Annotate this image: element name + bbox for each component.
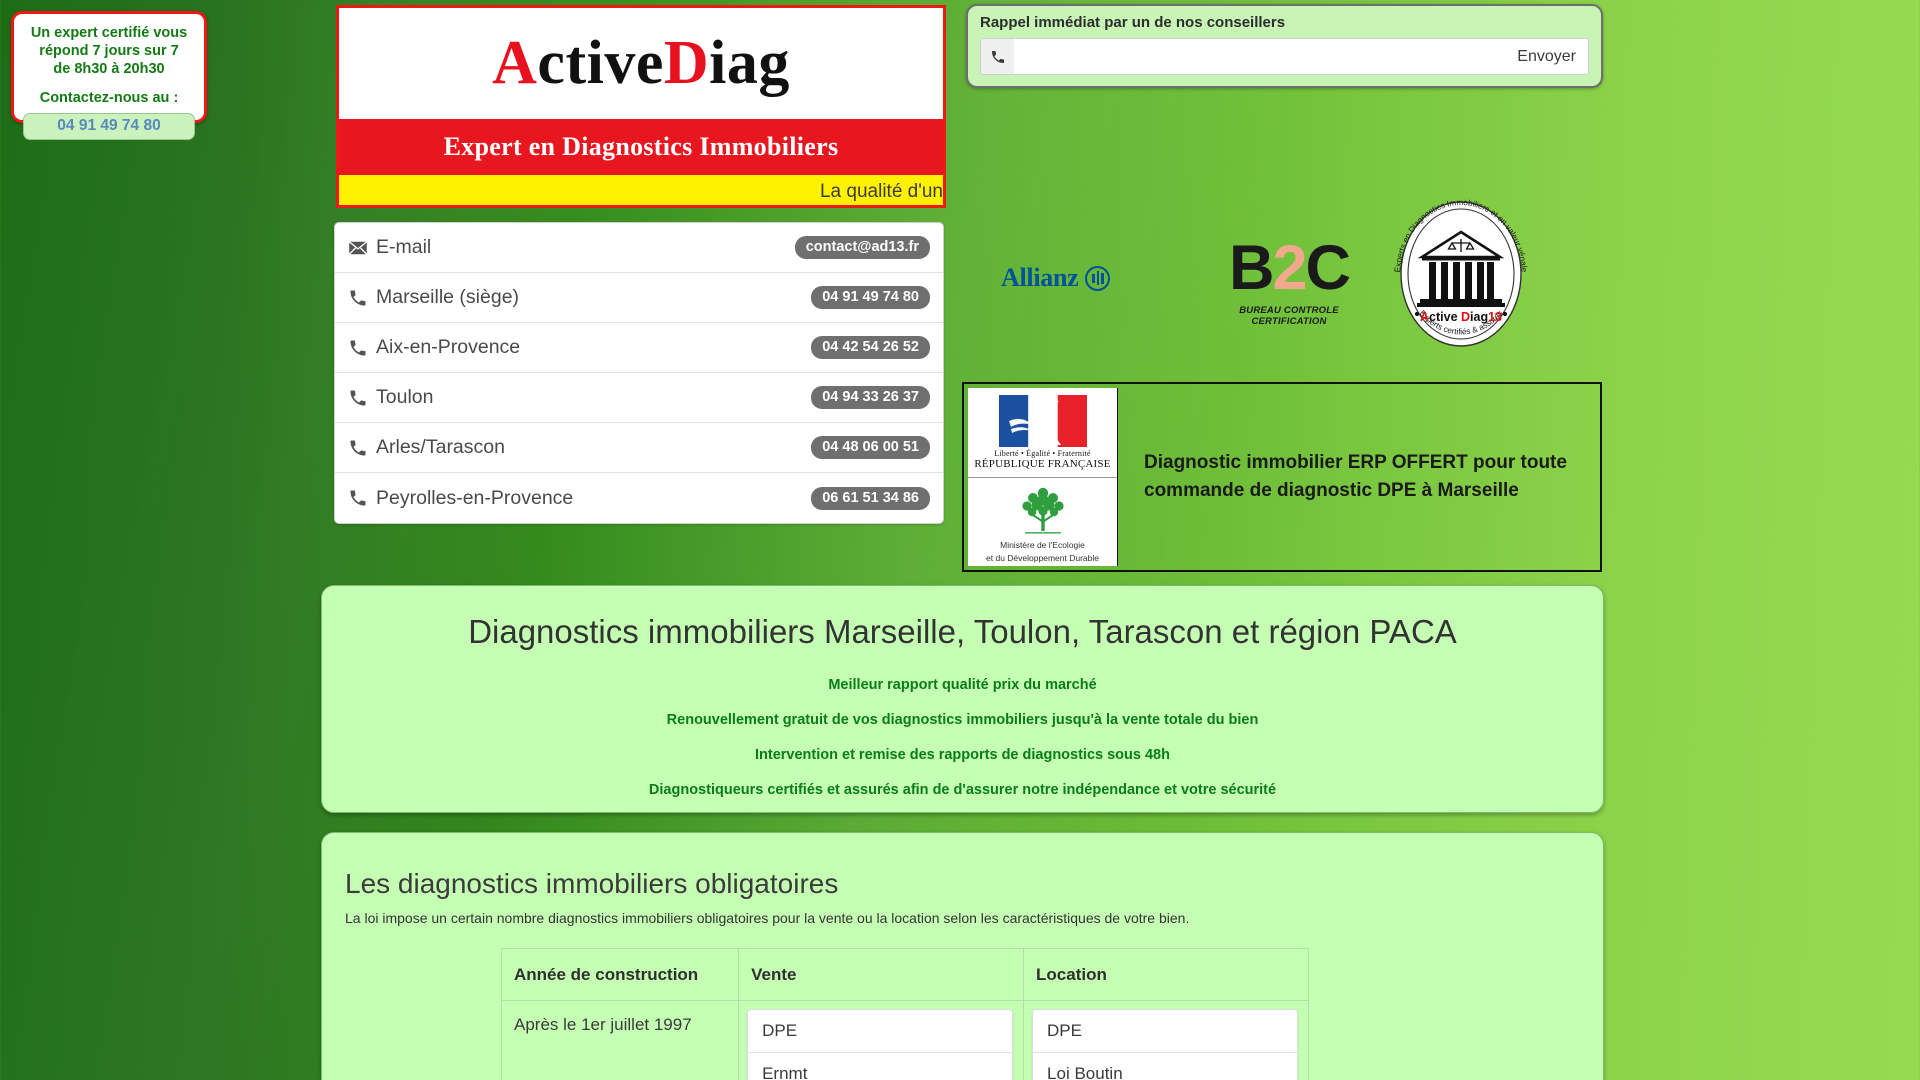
allianz-bars-icon — [1085, 266, 1110, 291]
contact-value[interactable]: 06 61 51 34 86 — [811, 487, 930, 510]
expert-phone-button[interactable]: 04 91 49 74 80 — [23, 113, 195, 140]
tree-icon — [1015, 481, 1071, 537]
contact-row[interactable]: E-mailcontact@ad13.fr — [335, 223, 943, 273]
republique-motto: Liberté • Égalité • Fraternité — [994, 449, 1090, 458]
logo-title-iag: iag — [709, 28, 790, 99]
french-flag-marianne-icon — [999, 395, 1087, 447]
logo-title-a: A — [492, 28, 537, 99]
svg-text:Active Diag13: Active Diag13 — [1420, 310, 1502, 324]
table-cell-location: DPELoi Boutin — [1024, 1001, 1309, 1080]
contact-label: Toulon — [376, 386, 433, 409]
ministere-line-2: et du Développement Durable — [986, 553, 1099, 563]
erp-official-logos: Liberté • Égalité • Fraternité RÉPUBLIQU… — [968, 388, 1118, 566]
logo-tagline: La qualité d'un — [339, 175, 943, 208]
site-logo: Active Diag Expert en Diagnostics Immobi… — [336, 5, 946, 208]
b2c-digit-2: 2 — [1272, 233, 1305, 303]
contact-value[interactable]: 04 91 49 74 80 — [811, 286, 930, 309]
contact-label: E-mail — [376, 236, 431, 259]
contact-value[interactable]: contact@ad13.fr — [795, 236, 930, 259]
contact-label: Marseille (siège) — [376, 286, 519, 309]
intro-line: Diagnostiqueurs certifiés et assurés afi… — [322, 782, 1603, 798]
expert-line-3: de 8h30 à 20h30 — [14, 60, 204, 78]
contact-row[interactable]: Arles/Tarascon04 48 06 00 51 — [335, 423, 943, 473]
erp-offer-banner: Liberté • Égalité • Fraternité RÉPUBLIQU… — [962, 382, 1602, 572]
section-subtitle: La loi impose un certain nombre diagnost… — [345, 910, 1591, 926]
table-column-header: Location — [1024, 949, 1309, 1001]
callback-submit-button[interactable]: Envoyer — [1505, 38, 1589, 75]
intro-bullet-lines: Meilleur rapport qualité prix du marchéR… — [322, 677, 1603, 798]
list-item[interactable]: DPE — [748, 1010, 1012, 1053]
logo-title: Active Diag — [339, 8, 943, 119]
diagnostic-list: DPEErnmt — [747, 1009, 1013, 1080]
table-cell-vente: DPEErnmt — [739, 1001, 1024, 1080]
partner-logos: Allianz B2C BUREAU CONTROLE CERTIFICATIO… — [966, 215, 1603, 360]
intro-panel: Diagnostics immobiliers Marseille, Toulo… — [321, 585, 1604, 813]
diagnostics-table: Année de constructionVenteLocation Après… — [501, 948, 1309, 1080]
diagnostic-list: DPELoi Boutin — [1032, 1009, 1298, 1080]
phone-icon — [348, 388, 368, 408]
callback-phone-input[interactable] — [1014, 38, 1505, 75]
phone-icon — [980, 38, 1014, 75]
list-item[interactable]: Ernmt — [748, 1053, 1012, 1080]
contact-value[interactable]: 04 48 06 00 51 — [811, 436, 930, 459]
intro-line: Renouvellement gratuit de vos diagnostic… — [322, 712, 1603, 728]
logo-subtitle: Expert en Diagnostics Immobiliers — [339, 119, 943, 175]
expert-line-1: Un expert certifié vous — [14, 24, 204, 42]
ministere-ecologie-logo: Ministère de l'Ecologie et du Développem… — [968, 478, 1117, 567]
erp-offer-text: Diagnostic immobilier ERP OFFERT pour to… — [1118, 384, 1600, 570]
intro-line: Intervention et remise des rapports de d… — [322, 747, 1603, 763]
phone-icon — [348, 438, 368, 458]
ministere-line-1: Ministère de l'Ecologie — [1000, 540, 1085, 550]
contact-label: Aix-en-Provence — [376, 336, 520, 359]
contact-row[interactable]: Peyrolles-en-Provence06 61 51 34 86 — [335, 473, 943, 523]
callback-title: Rappel immédiat par un de nos conseiller… — [980, 14, 1589, 31]
republique-label: RÉPUBLIQUE FRANÇAISE — [974, 458, 1110, 470]
allianz-label: Allianz — [1001, 263, 1078, 293]
b2c-caption: BUREAU CONTROLE CERTIFICATION — [1204, 305, 1374, 327]
table-row: Après le 1er juillet 1997DPEErnmtDPELoi … — [502, 1001, 1309, 1080]
phone-icon — [348, 488, 368, 508]
erp-offer-line-2: commande de diagnostic DPE à Marseille — [1144, 477, 1567, 505]
callback-request-box: Rappel immédiat par un de nos conseiller… — [966, 4, 1603, 88]
contact-value[interactable]: 04 94 33 26 37 — [811, 386, 930, 409]
contact-value[interactable]: 04 42 54 26 52 — [811, 336, 930, 359]
logo-title-d: D — [664, 28, 709, 99]
contact-list: E-mailcontact@ad13.frMarseille (siège)04… — [334, 222, 944, 524]
logo-title-ctive: ctive — [537, 28, 663, 99]
expert-line-2: répond 7 jours sur 7 — [14, 42, 204, 60]
section-title: Les diagnostics immobiliers obligatoires — [345, 868, 1591, 900]
contact-row[interactable]: Toulon04 94 33 26 37 — [335, 373, 943, 423]
contact-row[interactable]: Marseille (siège)04 91 49 74 80 — [335, 273, 943, 323]
erp-offer-line-1: Diagnostic immobilier ERP OFFERT pour to… — [1144, 449, 1567, 477]
table-body: Après le 1er juillet 1997DPEErnmtDPELoi … — [502, 1001, 1309, 1080]
callback-form: Envoyer — [980, 38, 1589, 75]
expert-certified-box: Un expert certifié vous répond 7 jours s… — [11, 11, 207, 123]
contact-label: Peyrolles-en-Provence — [376, 487, 573, 510]
republique-francaise-logo: Liberté • Égalité • Fraternité RÉPUBLIQU… — [968, 388, 1117, 478]
b2c-mark: B2C — [1204, 233, 1374, 303]
table-column-header: Année de construction — [502, 949, 739, 1001]
b2c-logo: B2C BUREAU CONTROLE CERTIFICATION — [1204, 233, 1374, 327]
envelope-icon — [348, 238, 368, 258]
contact-row[interactable]: Aix-en-Provence04 42 54 26 52 — [335, 323, 943, 373]
phone-icon — [348, 338, 368, 358]
contact-label: Arles/Tarascon — [376, 436, 505, 459]
b2c-letter-b: B — [1229, 233, 1273, 303]
phone-icon — [348, 288, 368, 308]
list-item[interactable]: DPE — [1033, 1010, 1297, 1053]
table-column-header: Vente — [739, 949, 1024, 1001]
allianz-logo: Allianz — [1001, 263, 1110, 293]
b2c-letter-c: C — [1306, 233, 1350, 303]
active-diag13-seal: Experts en Diagnostics Immobiliers et en… — [1386, 199, 1531, 344]
table-header-row: Année de constructionVenteLocation — [502, 949, 1309, 1001]
table-cell-year: Après le 1er juillet 1997 — [502, 1001, 739, 1080]
table-head: Année de constructionVenteLocation — [502, 949, 1309, 1001]
page-title: Diagnostics immobiliers Marseille, Toulo… — [322, 613, 1603, 651]
obligatory-diagnostics-panel: Les diagnostics immobiliers obligatoires… — [321, 832, 1604, 1080]
seal-svg: Experts en Diagnostics Immobiliers et en… — [1386, 199, 1536, 349]
expert-contact-label: Contactez-nous au : — [14, 90, 204, 106]
list-item[interactable]: Loi Boutin — [1033, 1053, 1297, 1080]
intro-line: Meilleur rapport qualité prix du marché — [322, 677, 1603, 693]
